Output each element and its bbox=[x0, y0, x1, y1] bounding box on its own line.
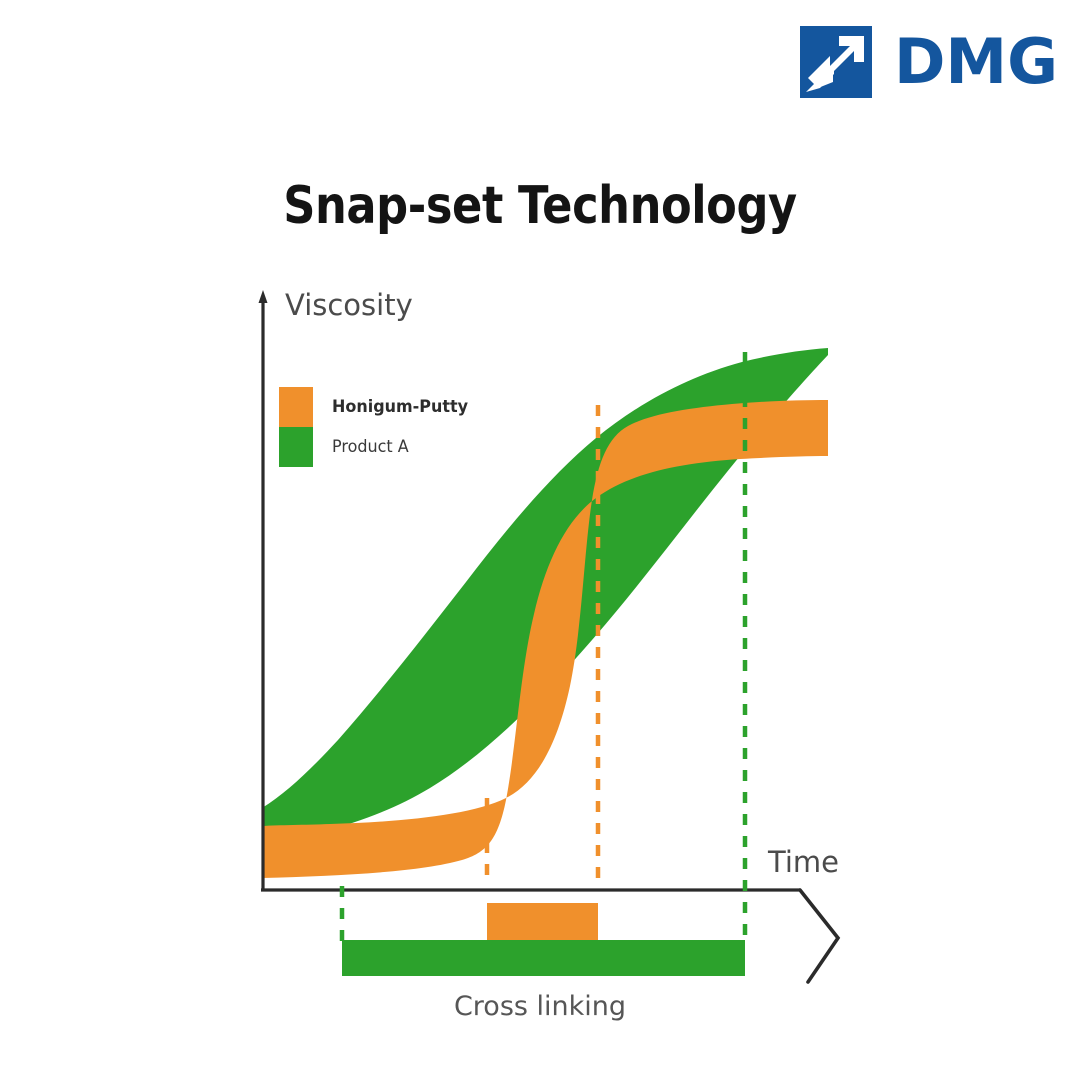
cross-linking-bar-product-a bbox=[342, 940, 745, 976]
legend-item-honigum-putty: Honigum-Putty bbox=[279, 387, 539, 427]
poster-canvas: DMG Snap-set Technology bbox=[0, 0, 1080, 1080]
legend-swatch-product-a bbox=[279, 427, 313, 467]
snap-set-chart bbox=[0, 0, 1080, 1080]
x-axis-bracket-icon bbox=[800, 890, 838, 982]
y-axis-arrowhead bbox=[259, 290, 268, 303]
y-axis-label: Viscosity bbox=[285, 288, 413, 322]
legend-label-honigum-putty: Honigum-Putty bbox=[332, 397, 468, 417]
legend-swatch-honigum-putty bbox=[279, 387, 313, 427]
chart-legend: Honigum-Putty Product A bbox=[279, 387, 539, 467]
cross-linking-bar-honigum bbox=[487, 903, 598, 943]
x-axis-label: Time bbox=[768, 845, 839, 879]
legend-item-product-a: Product A bbox=[279, 427, 539, 467]
legend-label-product-a: Product A bbox=[332, 437, 409, 457]
cross-linking-caption: Cross linking bbox=[0, 991, 1080, 1022]
